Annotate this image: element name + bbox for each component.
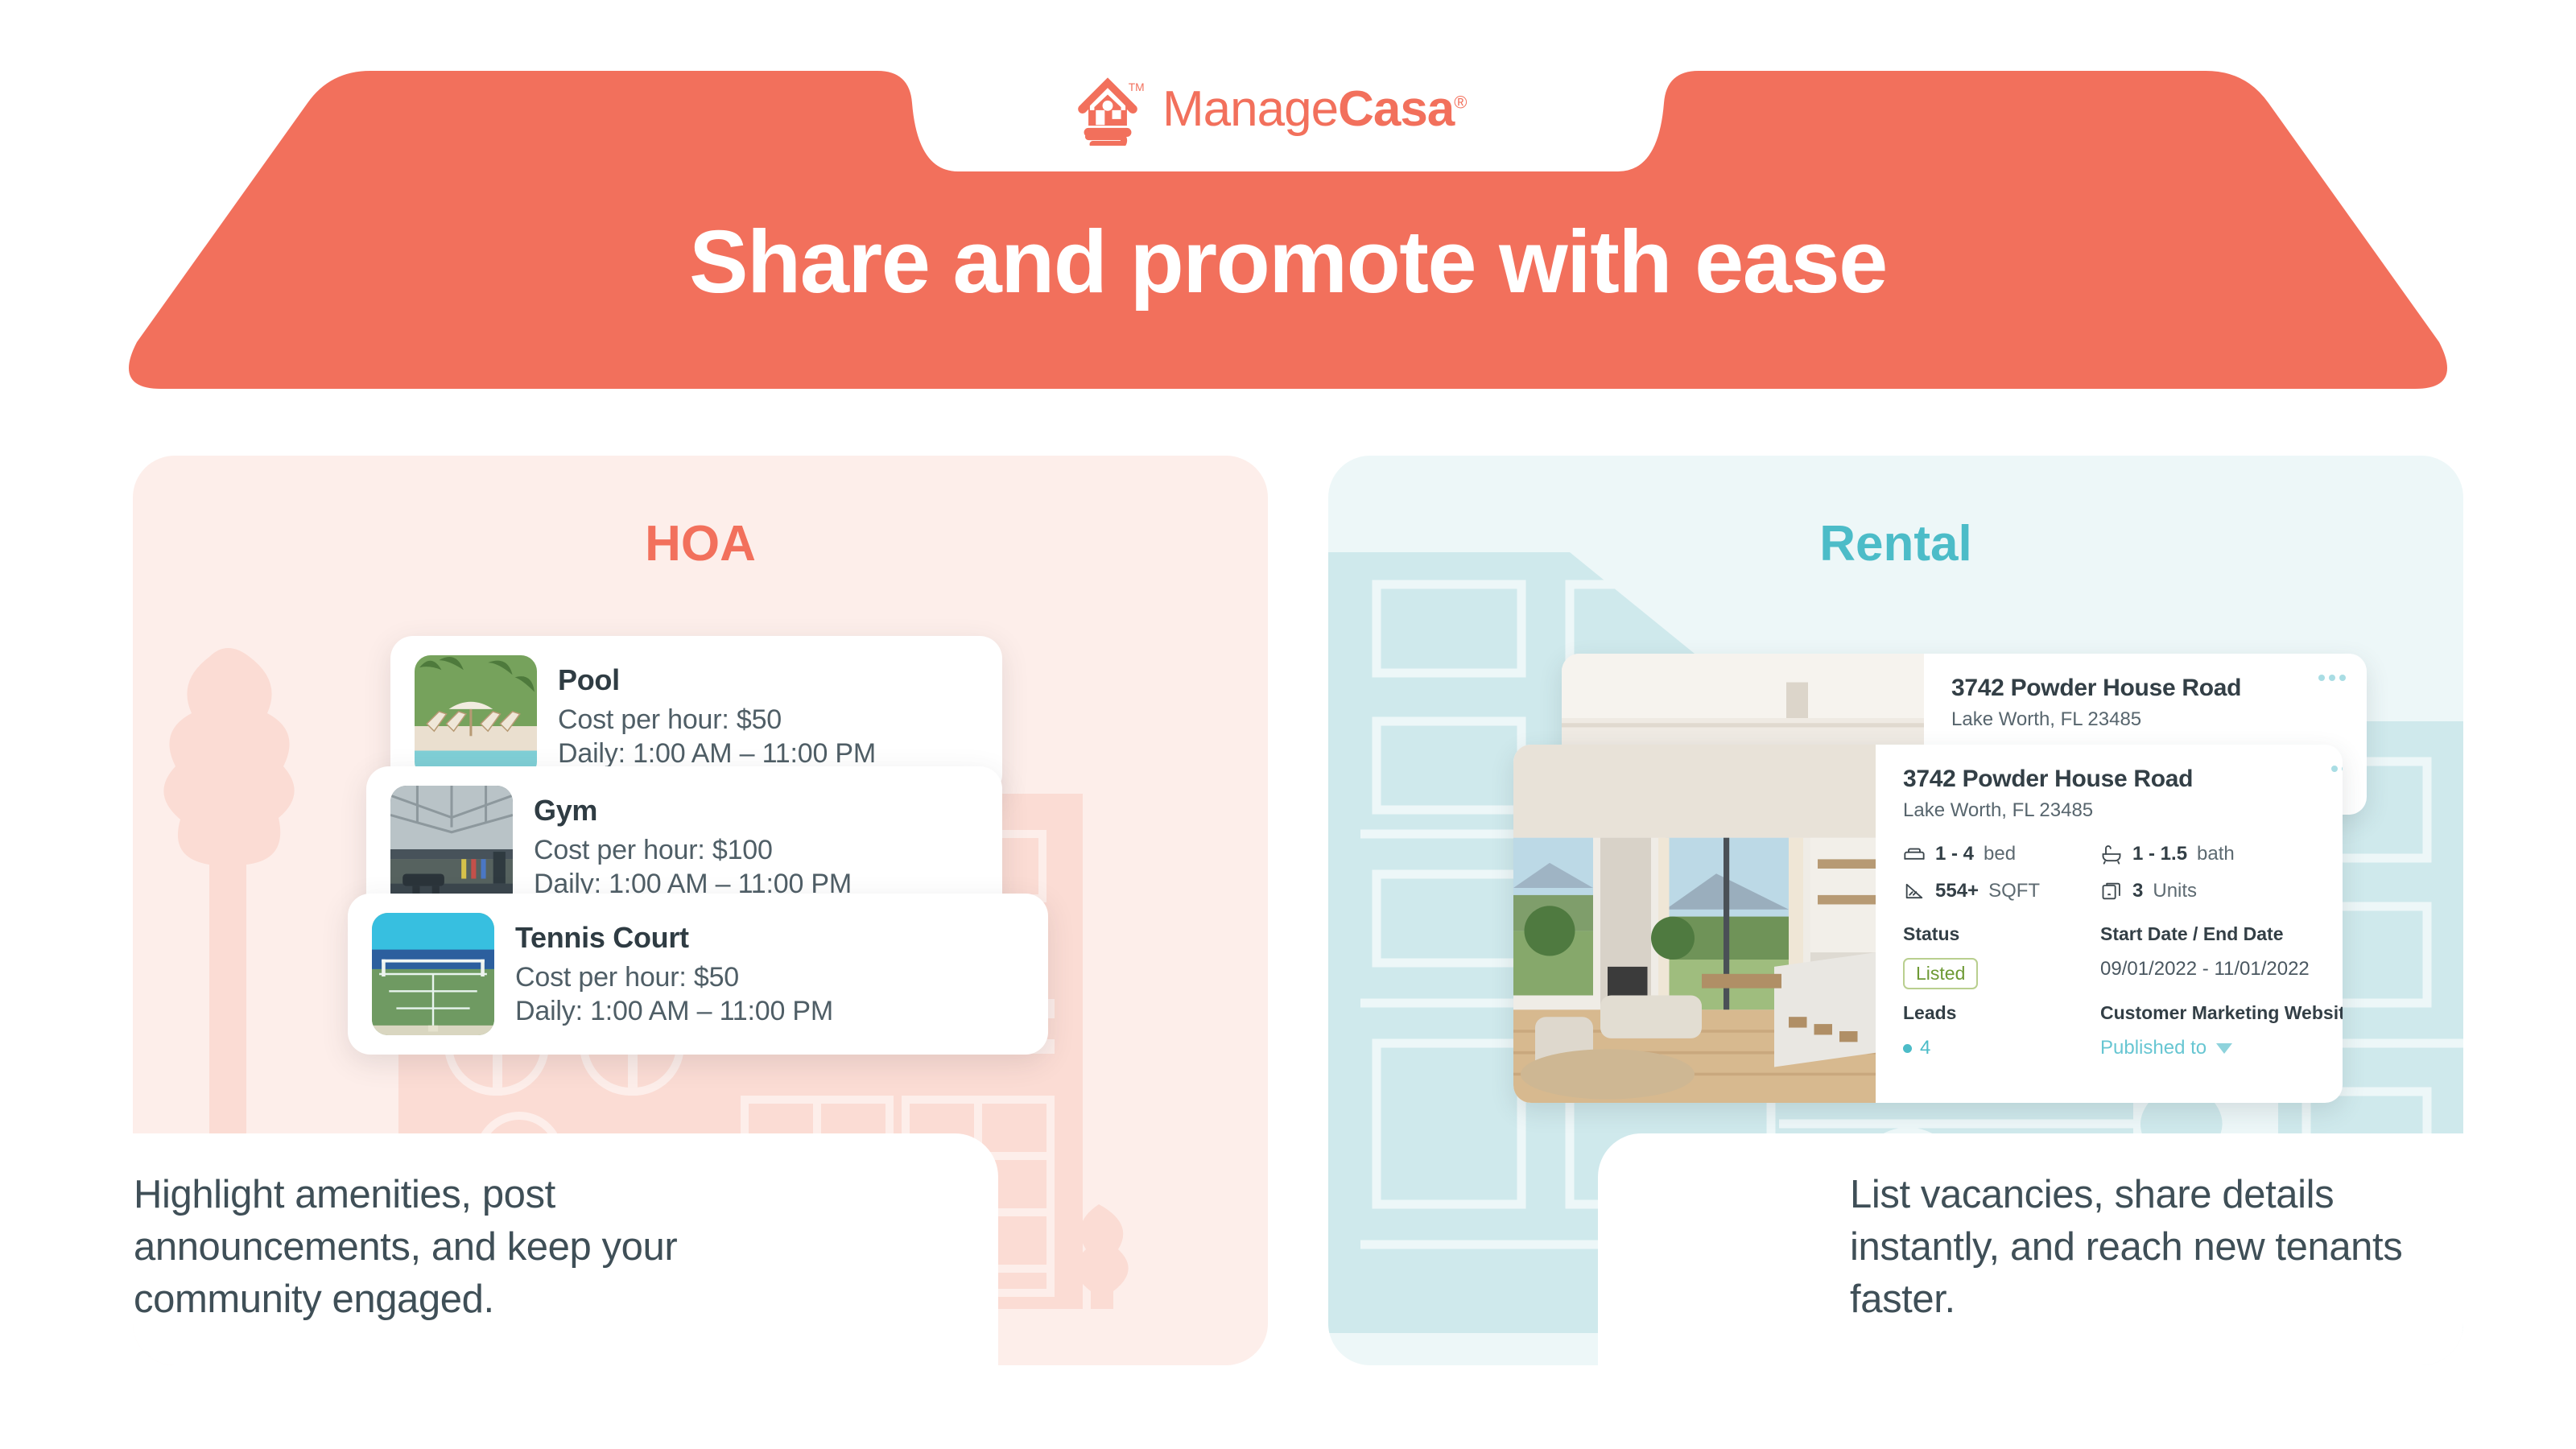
amenity-name: Pool [558,663,876,697]
page-title: Share and promote with ease [0,211,2576,313]
spec-bath-unit: bath [2197,843,2235,865]
spec-units-unit: Units [2153,880,2197,902]
listing-city: Lake Worth, FL 23485 [1951,708,2343,731]
amenity-info: Gym Cost per hour: $100 Daily: 1:00 AM –… [534,792,852,902]
listing-city: Lake Worth, FL 23485 [1903,799,2343,822]
listing-card-front[interactable]: 3742 Powder House Road Lake Worth, FL 23… [1513,745,2343,1103]
spec-bed-value: 1 - 4 [1935,843,1974,865]
listing-meta: Status Start Date / End Date Listed 09/0… [1903,923,2343,1059]
spec-bed: 1 - 4 bed [1903,843,2100,865]
banner-shape [0,0,2576,402]
amenity-cost: Cost per hour: $50 [558,704,876,737]
brand-name-bold: Casa [1338,81,1454,137]
leads-label: Leads [1903,1002,2100,1024]
bed-icon [1903,843,1926,865]
published-to-dropdown[interactable]: Published to [2100,1037,2343,1059]
area-icon [1903,880,1926,902]
spec-bath-value: 1 - 1.5 [2132,843,2187,865]
amenity-cost: Cost per hour: $50 [515,961,833,995]
amenity-info: Pool Cost per hour: $50 Daily: 1:00 AM –… [558,662,876,771]
registered-mark: ® [1454,92,1466,112]
dates-value: 09/01/2022 - 11/01/2022 [2100,958,2343,989]
more-options-icon[interactable] [2331,766,2343,772]
leads-value: 4 [1920,1037,1930,1059]
tennis-photo [372,913,494,1035]
status-label: Status [1903,923,2100,945]
more-options-icon[interactable] [2318,675,2346,681]
listing-photo-front [1513,745,1876,1103]
amenity-hours: Daily: 1:00 AM – 11:00 PM [515,995,833,1029]
spec-bath: 1 - 1.5 bath [2100,843,2343,865]
header-banner: TM ManageCasa® Share and promote with ea… [0,0,2576,402]
house-logo-icon: TM [1071,72,1145,146]
amenity-name: Gym [534,794,852,828]
caption-rental: List vacancies, share details instantly,… [1850,1169,2494,1326]
amenity-info: Tennis Court Cost per hour: $50 Daily: 1… [515,919,833,1029]
pool-photo [415,655,537,778]
brand-logo: TM ManageCasa® [1071,72,1467,145]
bath-icon [2100,843,2123,865]
published-to-label: Published to [2100,1037,2207,1059]
dates-label: Start Date / End Date [2100,923,2343,945]
caption-hoa: Highlight amenities, post announcements,… [134,1169,818,1326]
website-label: Customer Marketing Website [2100,1002,2343,1024]
status-badge-wrap: Listed [1903,958,2100,989]
listing-address: 3742 Powder House Road [1951,675,2343,702]
listing-specs: 1 - 4 bed 1 - 1.5 bath [1903,843,2343,902]
chevron-down-icon [2216,1043,2232,1054]
amenity-cost: Cost per hour: $100 [534,834,852,868]
status-badge: Listed [1903,958,1978,989]
amenity-card-tennis-court[interactable]: Tennis Court Cost per hour: $50 Daily: 1… [348,894,1048,1055]
listing-body-front: 3742 Powder House Road Lake Worth, FL 23… [1876,745,2343,1103]
spec-area: 554+ SQFT [1903,880,2100,902]
panel-title-rental: Rental [1328,515,2463,572]
units-icon [2100,880,2123,902]
brand-name-light: Manage [1162,81,1338,137]
spec-bed-unit: bed [1984,843,2016,865]
leads-dot-icon [1903,1044,1912,1053]
spec-units: 3 Units [2100,880,2343,902]
svg-text:TM: TM [1129,81,1145,93]
listing-address: 3742 Powder House Road [1903,766,2343,793]
gym-photo [390,786,513,908]
spec-units-value: 3 [2132,880,2143,902]
amenity-name: Tennis Court [515,921,833,955]
leads-value-row: 4 [1903,1037,2100,1059]
spec-area-unit: SQFT [1988,880,2040,902]
spec-area-value: 554+ [1935,880,1979,902]
panel-title-hoa: HOA [133,515,1268,572]
brand-wordmark: ManageCasa® [1162,80,1467,138]
